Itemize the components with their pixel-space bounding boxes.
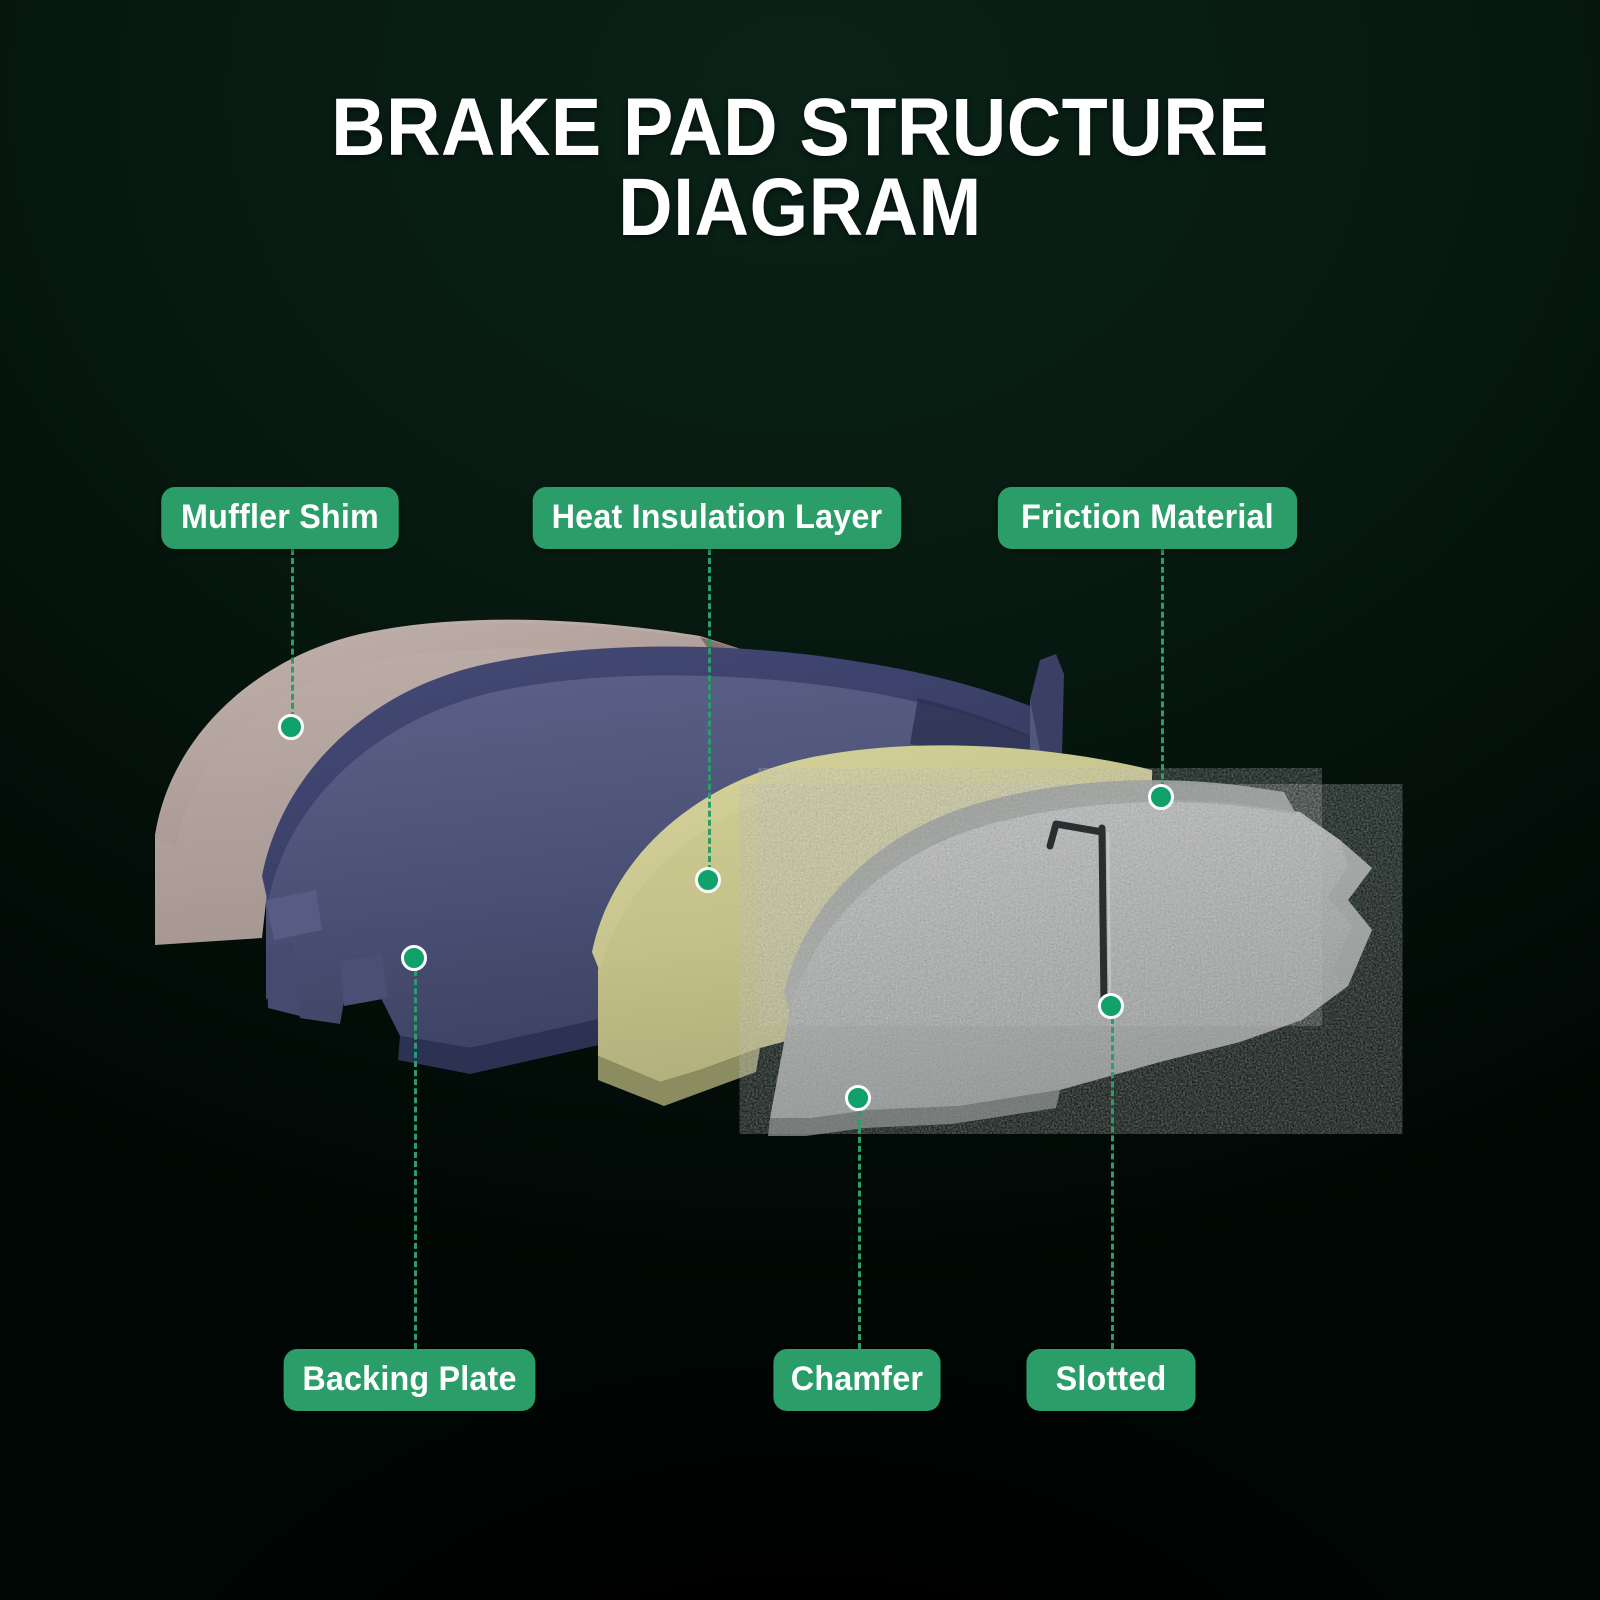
label-heat-insulation-layer-text: Heat Insulation Layer	[552, 498, 883, 537]
label-muffler-shim[interactable]: Muffler Shim	[161, 487, 399, 549]
label-friction-material-text: Friction Material	[1021, 498, 1274, 537]
label-heat-insulation-layer[interactable]: Heat Insulation Layer	[533, 487, 902, 549]
connector-muffler-shim	[291, 549, 294, 727]
label-friction-material[interactable]: Friction Material	[998, 487, 1297, 549]
marker-heat-insulation-layer[interactable]	[695, 867, 721, 893]
diagram-canvas: BRAKE PAD STRUCTURE DIAGRAM	[0, 0, 1600, 1600]
label-backing-plate[interactable]: Backing Plate	[284, 1349, 536, 1411]
connector-backing-plate	[414, 970, 417, 1349]
connector-chamfer	[858, 1110, 861, 1349]
label-backing-plate-text: Backing Plate	[302, 1360, 516, 1399]
marker-muffler-shim[interactable]	[278, 714, 304, 740]
label-chamfer-text: Chamfer	[791, 1360, 923, 1399]
connector-slotted	[1111, 1018, 1114, 1349]
label-slotted[interactable]: Slotted	[1026, 1349, 1195, 1411]
label-slotted-text: Slotted	[1056, 1360, 1167, 1399]
marker-friction-material[interactable]	[1148, 784, 1174, 810]
label-chamfer[interactable]: Chamfer	[773, 1349, 940, 1411]
marker-backing-plate[interactable]	[401, 945, 427, 971]
marker-slotted[interactable]	[1098, 993, 1124, 1019]
label-muffler-shim-text: Muffler Shim	[181, 498, 379, 537]
connector-heat-insulation-layer	[708, 549, 711, 880]
connector-friction-material	[1161, 549, 1164, 797]
marker-chamfer[interactable]	[845, 1085, 871, 1111]
